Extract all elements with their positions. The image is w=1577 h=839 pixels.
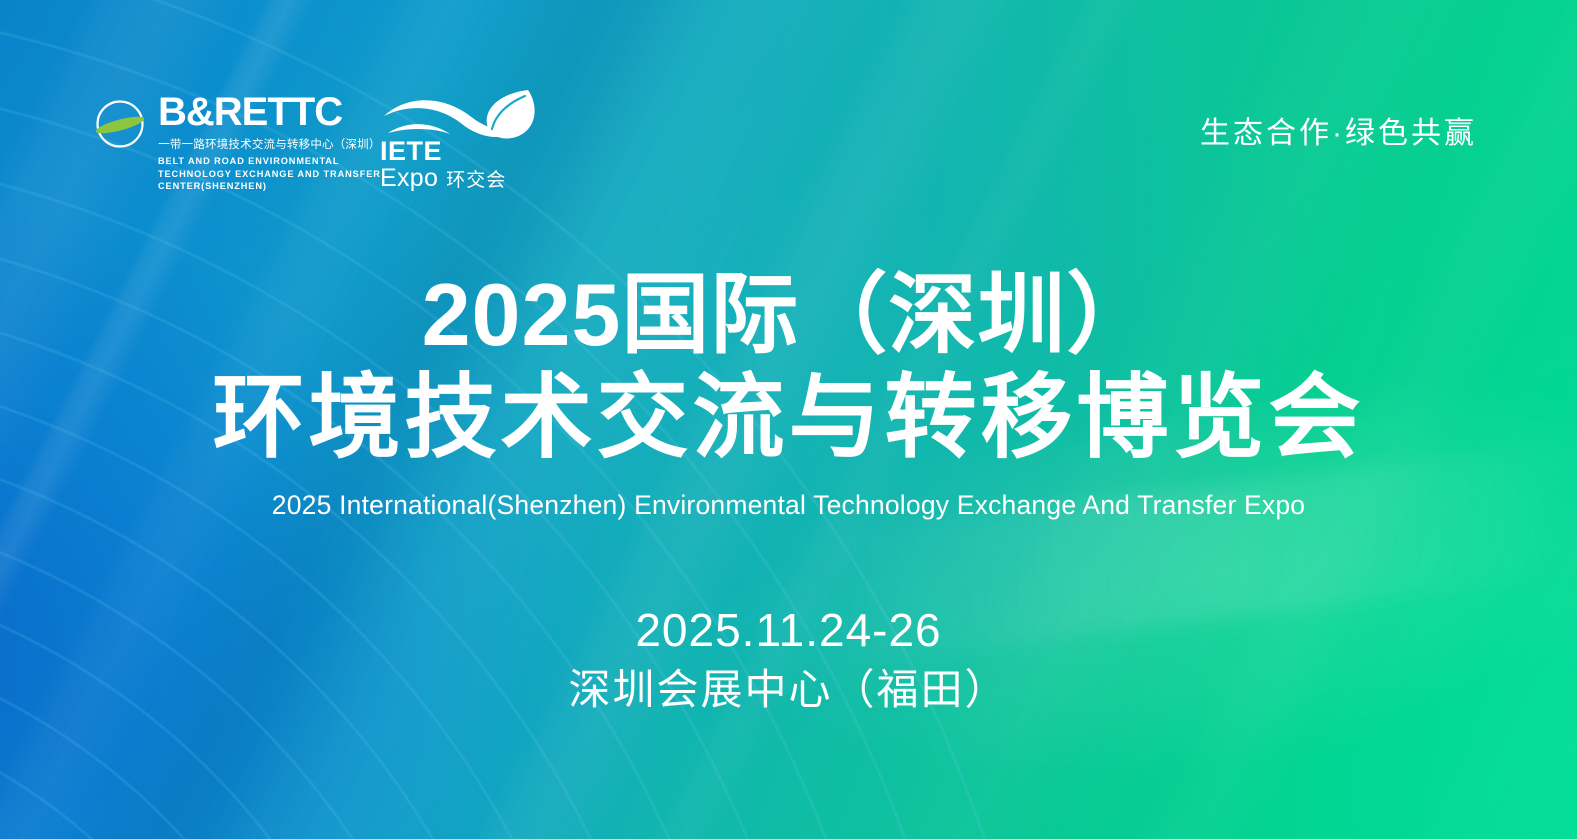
iete-expo-logo: IETE Expo 环交会 <box>378 86 543 198</box>
poster-content: B&RETTC 一带一路环境技术交流与转移中心（深圳） BELT AND ROA… <box>0 0 1577 839</box>
poster-title-block: 2025国际（深圳） 环境技术交流与转移博览会 2025 Internation… <box>0 268 1577 521</box>
brettc-english-lines: BELT AND ROAD ENVIRONMENTAL TECHNOLOGY E… <box>158 155 381 193</box>
brettc-wordmark: B&RETTC <box>158 92 381 132</box>
page-title-english: 2025 International(Shenzhen) Environment… <box>0 490 1577 521</box>
event-venue: 深圳会展中心（福田） <box>0 665 1577 715</box>
brettc-english-line-3: CENTER(SHENZHEN) <box>158 180 381 193</box>
page-title-line-1: 2025国际（深圳） <box>0 268 1577 361</box>
poster-header: B&RETTC 一带一路环境技术交流与转移中心（深圳） BELT AND ROA… <box>0 78 1577 198</box>
brettc-english-line-2: TECHNOLOGY EXCHANGE AND TRANSFER <box>158 168 381 181</box>
iete-wordmark: IETE <box>380 138 442 165</box>
iete-subwordmark: Expo 环交会 <box>380 166 506 191</box>
brettc-chinese-name: 一带一路环境技术交流与转移中心（深圳） <box>158 136 381 152</box>
iete-chinese-abbrev: 环交会 <box>446 171 506 190</box>
iete-expo-word: Expo <box>380 166 438 191</box>
globe-circle-band-icon <box>92 96 148 152</box>
page-title-line-2: 环境技术交流与转移博览会 <box>0 367 1577 470</box>
brettc-text-block: B&RETTC 一带一路环境技术交流与转移中心（深圳） BELT AND ROA… <box>158 92 381 193</box>
brettc-english-line-1: BELT AND ROAD ENVIRONMENTAL <box>158 155 381 168</box>
poster-meta-block: 2025.11.24-26 深圳会展中心（福田） <box>0 605 1577 715</box>
event-date: 2025.11.24-26 <box>0 605 1577 657</box>
event-poster: B&RETTC 一带一路环境技术交流与转移中心（深圳） BELT AND ROA… <box>0 0 1577 839</box>
event-slogan: 生态合作·绿色共赢 <box>1200 108 1477 152</box>
brettc-logo: B&RETTC 一带一路环境技术交流与转移中心（深圳） BELT AND ROA… <box>92 92 381 193</box>
